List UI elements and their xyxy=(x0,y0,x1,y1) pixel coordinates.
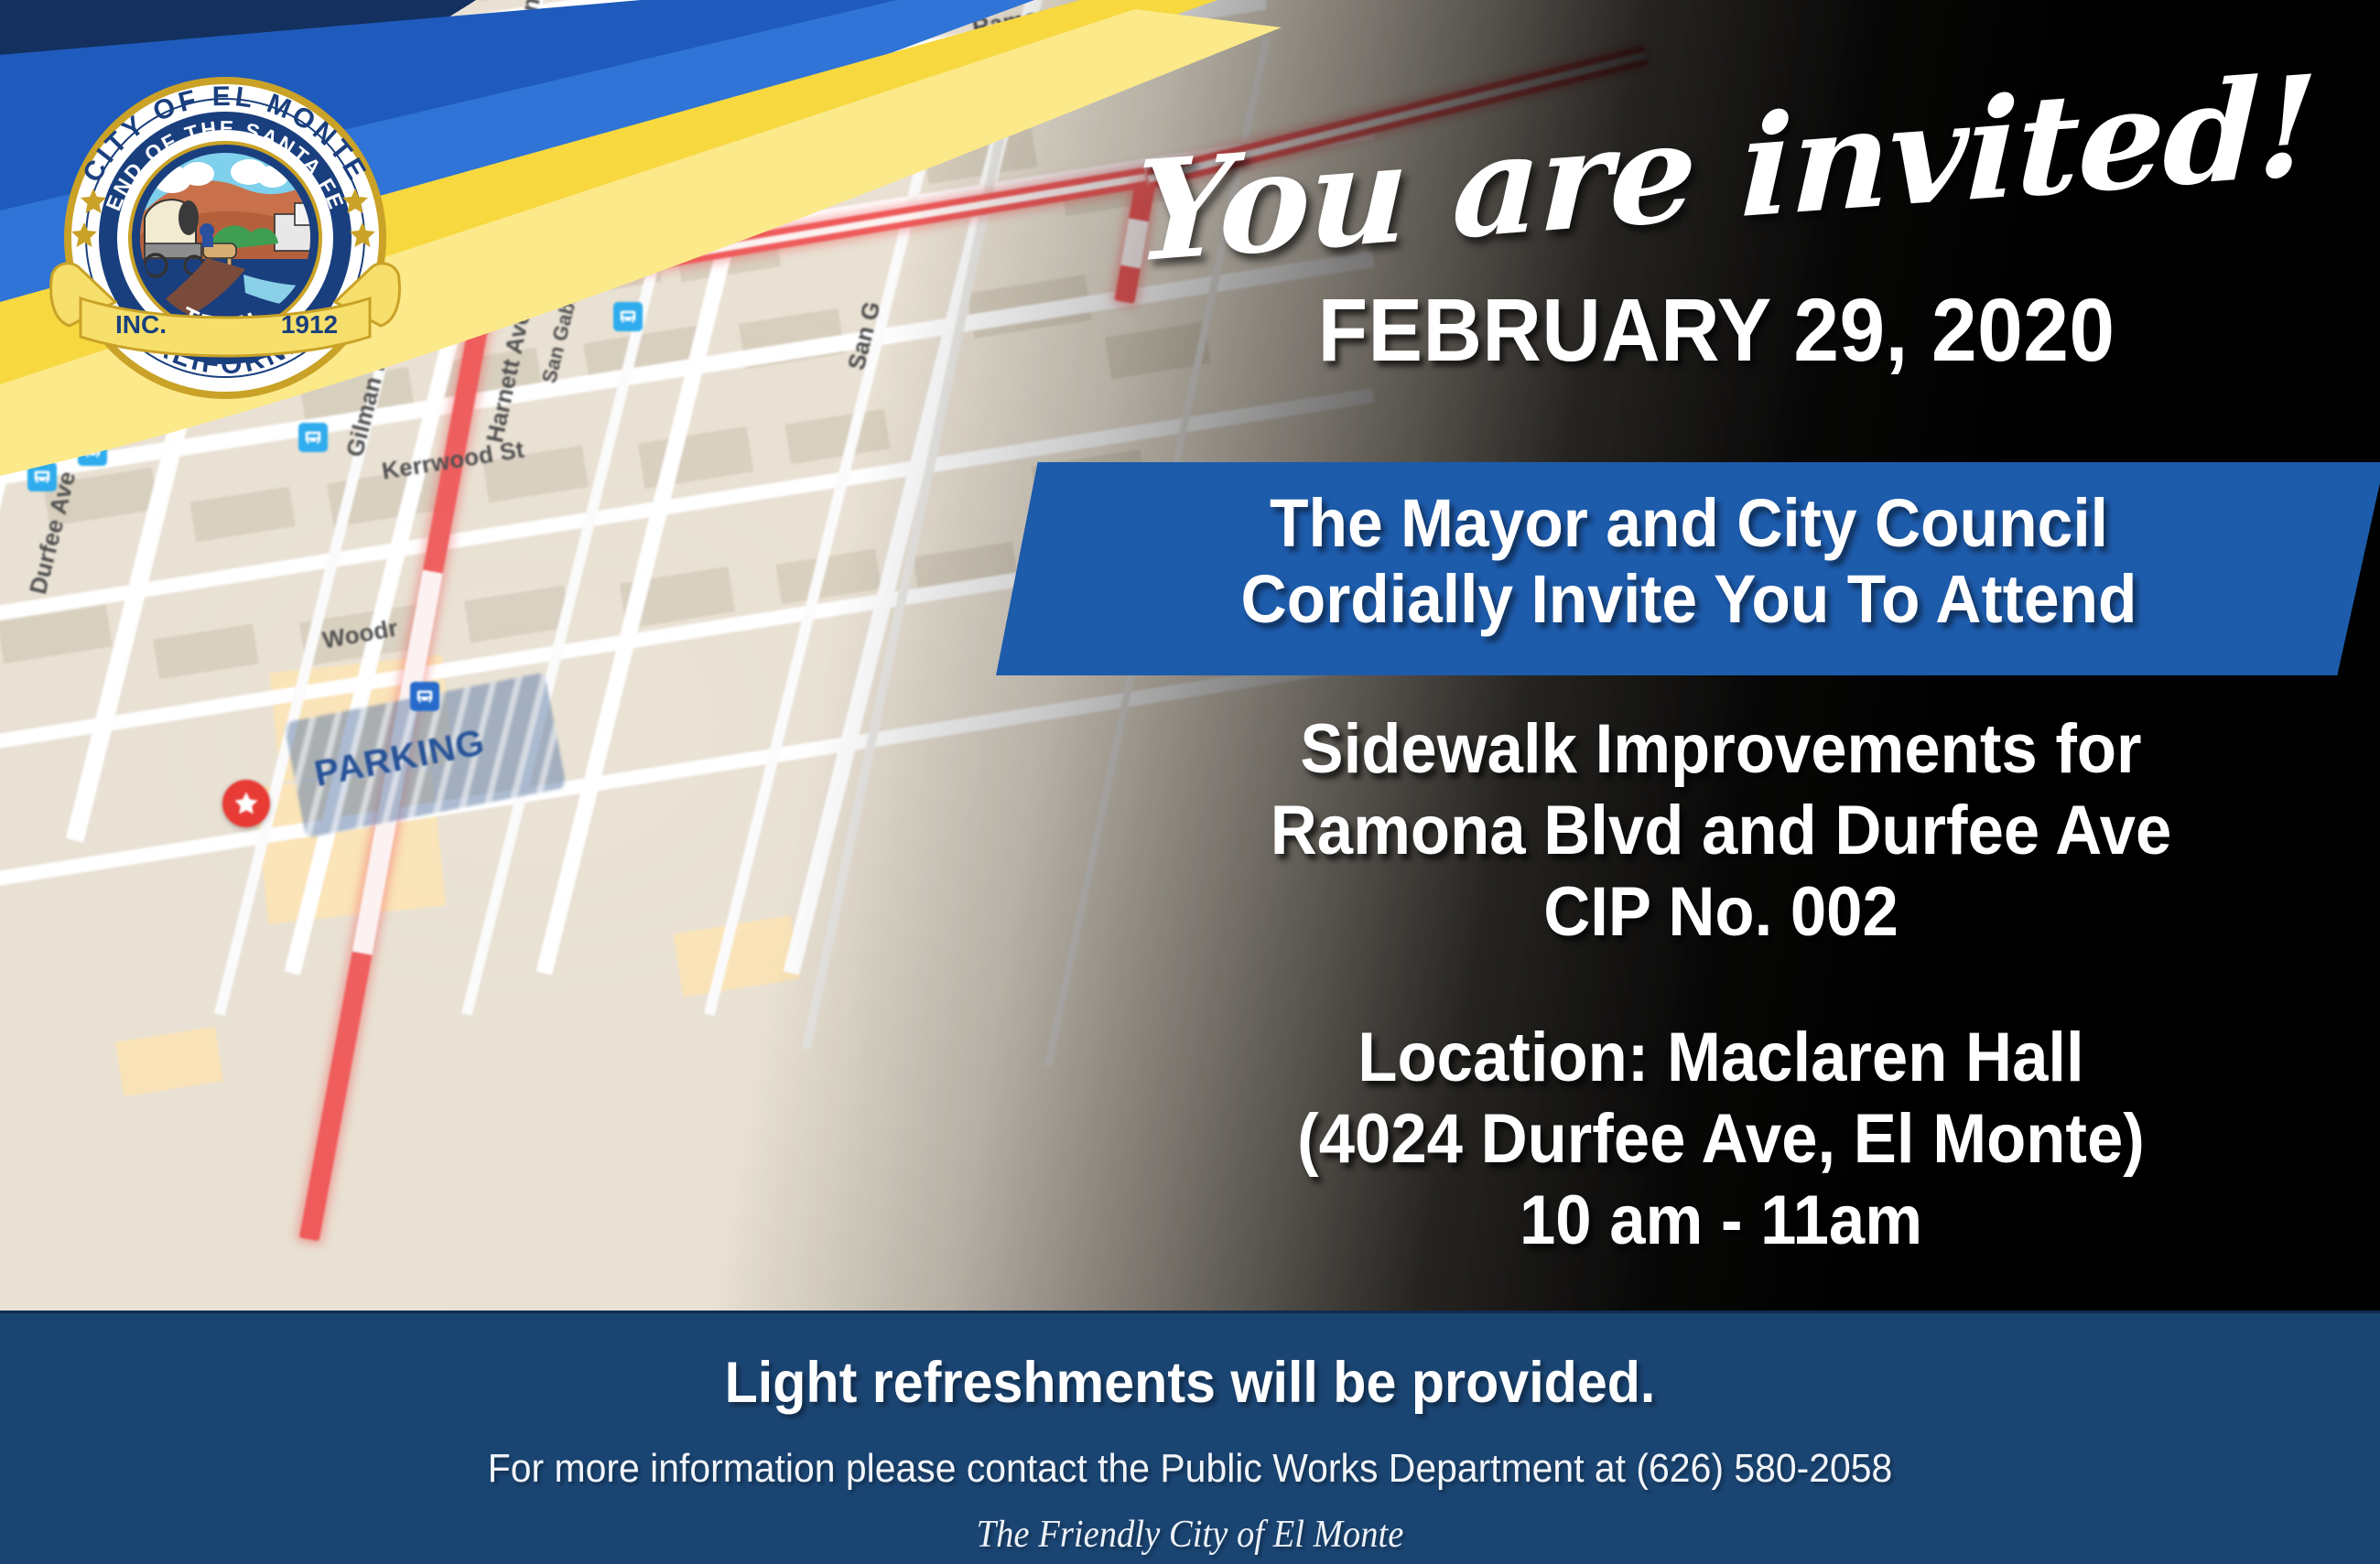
project-line-3: CIP No. 002 xyxy=(1117,872,2326,954)
invitation-headline: You are invited! xyxy=(1116,56,2334,283)
invitation-text-column: You are invited! FEBRUARY 29, 2020 The M… xyxy=(1053,0,2380,1318)
seal-ribbon-left-text: INC. xyxy=(115,310,167,339)
event-date: FEBRUARY 29, 2020 xyxy=(1106,284,2327,377)
contact-info: For more information please contact the … xyxy=(83,1446,2297,1492)
city-tagline: The Friendly City of El Monte xyxy=(95,1513,2285,1557)
city-seal: CITY OF EL MONTE END OF THE SANTA FE TRA… xyxy=(33,35,417,419)
project-line-2: Ramona Blvd and Durfee Ave xyxy=(1117,791,2326,872)
bus-stop-icon xyxy=(410,682,439,711)
project-line-1: Sidewalk Improvements for xyxy=(1117,709,2326,791)
location-line-1: Location: Maclaren Hall xyxy=(1117,1018,2326,1099)
flyer-footer: Light refreshments will be provided. For… xyxy=(0,1311,2380,1564)
seal-ribbon-right-text: 1912 xyxy=(281,310,338,339)
invite-banner-line-1: The Mayor and City Council xyxy=(1035,486,2343,562)
destination-star-marker xyxy=(222,780,270,827)
location-line-2: (4024 Durfee Ave, El Monte) xyxy=(1117,1099,2326,1181)
invitation-flyer: PARKING xyxy=(0,0,2380,1564)
invite-banner: The Mayor and City Council Cordially Inv… xyxy=(993,462,2380,675)
location-time: 10 am - 11am xyxy=(1117,1181,2326,1262)
project-description: Sidewalk Improvements for Ramona Blvd an… xyxy=(1117,709,2326,954)
invite-banner-text: The Mayor and City Council Cordially Inv… xyxy=(1035,486,2343,638)
refreshments-note: Light refreshments will be provided. xyxy=(71,1350,2309,1416)
invite-banner-line-2: Cordially Invite You To Attend xyxy=(1035,562,2343,638)
event-location: Location: Maclaren Hall (4024 Durfee Ave… xyxy=(1117,1018,2326,1262)
